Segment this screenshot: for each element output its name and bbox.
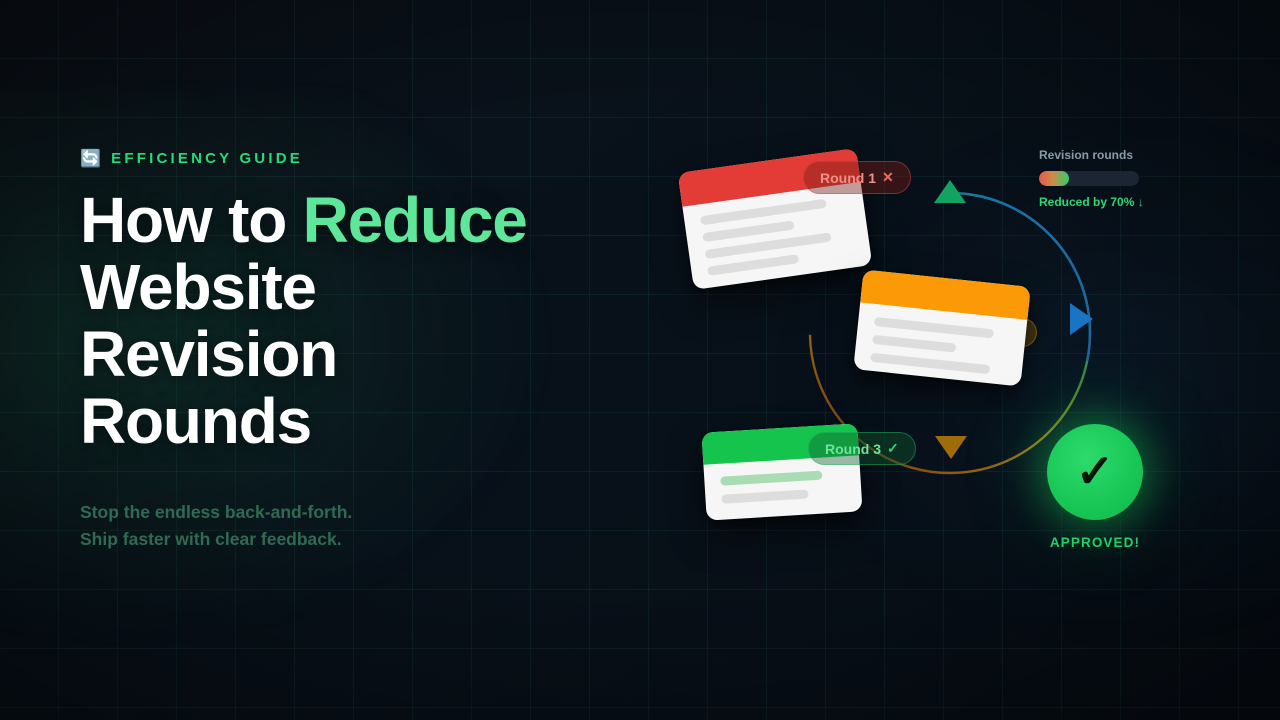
eyebrow-label: EFFICIENCY GUIDE: [111, 150, 303, 167]
approved-stamp: ✓ APPROVED!: [1002, 424, 1188, 550]
headline-accent-word: Reduce: [303, 184, 527, 256]
skeleton-line: [700, 199, 827, 226]
skeleton-line: [870, 353, 990, 374]
headline-line-4: Rounds: [80, 385, 311, 457]
refresh-loop-icon: 🔄: [80, 150, 101, 167]
skeleton-line: [872, 335, 957, 353]
poster-canvas: 🔄 EFFICIENCY GUIDE How to Reduce Website…: [0, 0, 1280, 720]
skeleton-line: [721, 489, 808, 503]
reject-mark-icon: ✕: [882, 169, 894, 186]
revision-metric-panel: Revision rounds Reduced by 70% ↓: [1039, 148, 1143, 209]
round-badge-3[interactable]: Round 3 ✓: [808, 432, 916, 465]
round-badge-3-label: Round 3: [825, 441, 881, 457]
round-badge-1[interactable]: Round 1 ✕: [803, 161, 911, 194]
headline-column: 🔄 EFFICIENCY GUIDE How to Reduce Website…: [80, 150, 600, 553]
page-title: How to Reduce Website Revision Rounds: [80, 187, 600, 455]
subheadline-line-2: Ship faster with clear feedback.: [80, 526, 600, 553]
skeleton-line: [874, 317, 994, 338]
approved-label: APPROVED!: [1002, 535, 1188, 550]
triangle-down-icon: [935, 436, 967, 459]
skeleton-line: [720, 471, 822, 486]
mock-card-round-2[interactable]: [853, 269, 1031, 386]
metric-caption: Reduced by 70% ↓: [1039, 195, 1143, 209]
metric-title: Revision rounds: [1039, 148, 1143, 162]
eyebrow: 🔄 EFFICIENCY GUIDE: [80, 150, 600, 167]
headline-line-1: How to Reduce: [80, 184, 527, 256]
headline-line-2: Website: [80, 251, 316, 323]
triangle-right-icon: [1070, 303, 1093, 335]
subheadline-line-1: Stop the endless back-and-forth.: [80, 499, 600, 526]
checkmark-icon: ✓: [1076, 448, 1115, 494]
triangle-up-icon: [934, 180, 966, 203]
headline-line-1-pre: How to: [80, 184, 303, 256]
metric-progress-fill: [1039, 171, 1069, 186]
subheadline: Stop the endless back-and-forth. Ship fa…: [80, 499, 600, 553]
metric-progress-track: [1039, 171, 1139, 186]
skeleton-line: [707, 254, 799, 276]
revision-cycle-illustration: 2 Round 1 ✕: [640, 0, 1280, 720]
approve-check-icon: ✓: [887, 440, 899, 457]
approved-circle[interactable]: ✓: [1047, 424, 1143, 520]
round-badge-1-label: Round 1: [820, 170, 876, 186]
headline-line-3: Revision: [80, 318, 337, 390]
